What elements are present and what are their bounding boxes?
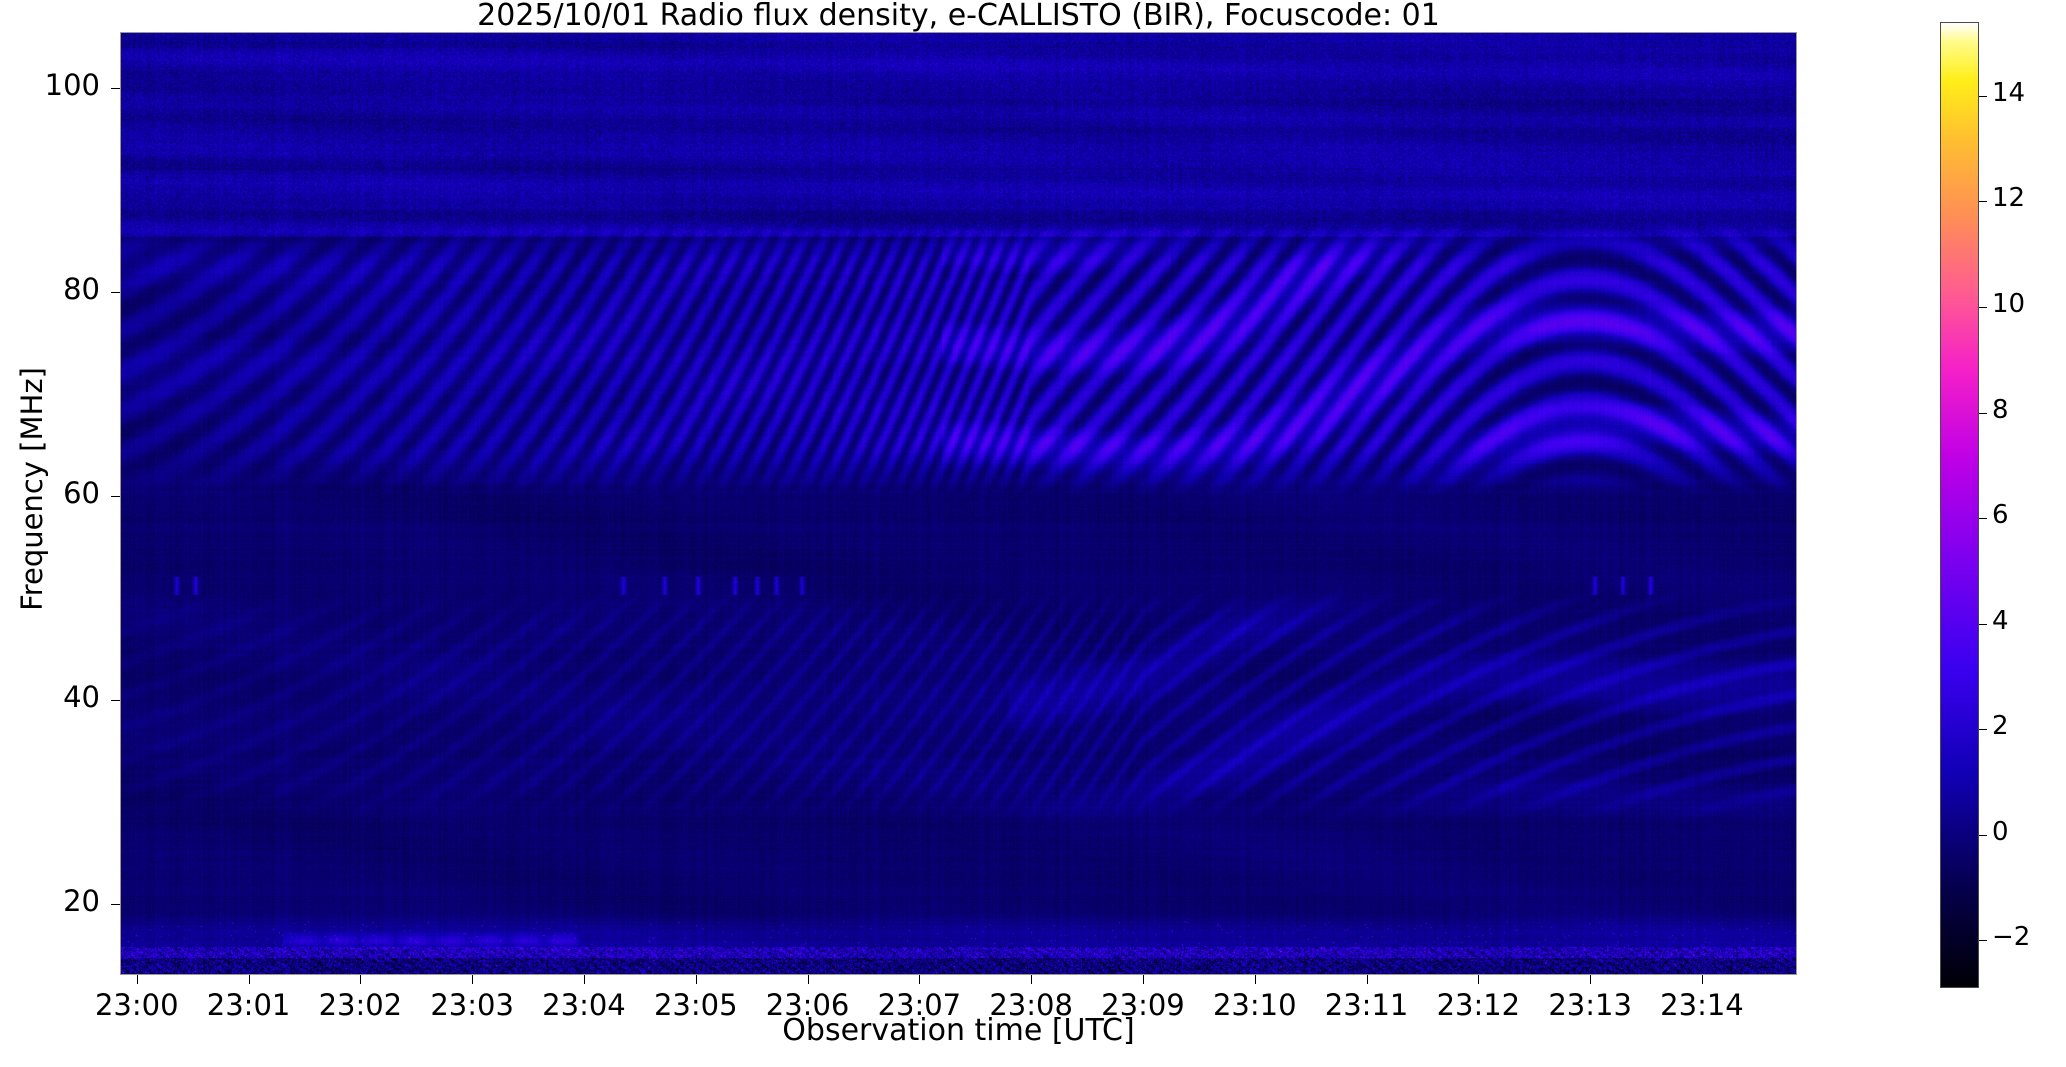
- x-tick-mark: [472, 975, 473, 984]
- colorbar-axes: [1940, 22, 1979, 988]
- x-tick-mark: [696, 975, 697, 984]
- x-tick-mark: [919, 975, 920, 984]
- colorbar-tick-mark: [1979, 413, 1987, 414]
- spectrogram-image: [121, 33, 1796, 974]
- y-tick-label: 60: [0, 476, 100, 510]
- x-tick-mark: [249, 975, 250, 984]
- colorbar-tick-mark: [1979, 835, 1987, 836]
- y-tick-label: 40: [0, 680, 100, 714]
- x-tick-mark: [1255, 975, 1256, 984]
- colorbar-tick-label: 4: [1992, 606, 2009, 636]
- y-tick-mark: [111, 292, 120, 293]
- colorbar-tick-mark: [1979, 201, 1987, 202]
- colorbar-tick-label: 12: [1992, 183, 2025, 213]
- y-tick-mark: [111, 496, 120, 497]
- colorbar-gradient: [1941, 23, 1978, 987]
- x-tick-mark: [1478, 975, 1479, 984]
- x-tick-mark: [1367, 975, 1368, 984]
- x-tick-mark: [584, 975, 585, 984]
- colorbar-tick-label: 10: [1992, 289, 2025, 319]
- colorbar-tick-mark: [1979, 96, 1987, 97]
- y-tick-label: 80: [0, 272, 100, 306]
- y-tick-label: 20: [0, 884, 100, 918]
- colorbar-tick-mark: [1979, 940, 1987, 941]
- y-tick-label: 100: [0, 68, 100, 102]
- figure-title: 2025/10/01 Radio flux density, e-CALLIST…: [120, 0, 1797, 32]
- x-tick-mark: [1143, 975, 1144, 984]
- x-tick-mark: [1031, 975, 1032, 984]
- spectrogram-axes: [120, 32, 1797, 975]
- x-tick-mark: [1590, 975, 1591, 984]
- y-tick-mark: [111, 904, 120, 905]
- y-tick-mark: [111, 88, 120, 89]
- colorbar-tick-mark: [1979, 729, 1987, 730]
- x-tick-mark: [137, 975, 138, 984]
- x-tick-mark: [808, 975, 809, 984]
- colorbar-tick-mark: [1979, 307, 1987, 308]
- colorbar-tick-label: −2: [1992, 922, 2030, 952]
- colorbar-tick-label: 8: [1992, 395, 2009, 425]
- x-tick-mark: [1702, 975, 1703, 984]
- colorbar-tick-label: 6: [1992, 500, 2009, 530]
- colorbar-tick-label: 2: [1992, 711, 2009, 741]
- x-tick-mark: [360, 975, 361, 984]
- x-axis-label: Observation time [UTC]: [120, 1013, 1797, 1048]
- colorbar-tick-mark: [1979, 624, 1987, 625]
- colorbar-tick-mark: [1979, 518, 1987, 519]
- colorbar-tick-label: 0: [1992, 817, 2009, 847]
- y-tick-mark: [111, 700, 120, 701]
- colorbar-tick-label: 14: [1992, 78, 2025, 108]
